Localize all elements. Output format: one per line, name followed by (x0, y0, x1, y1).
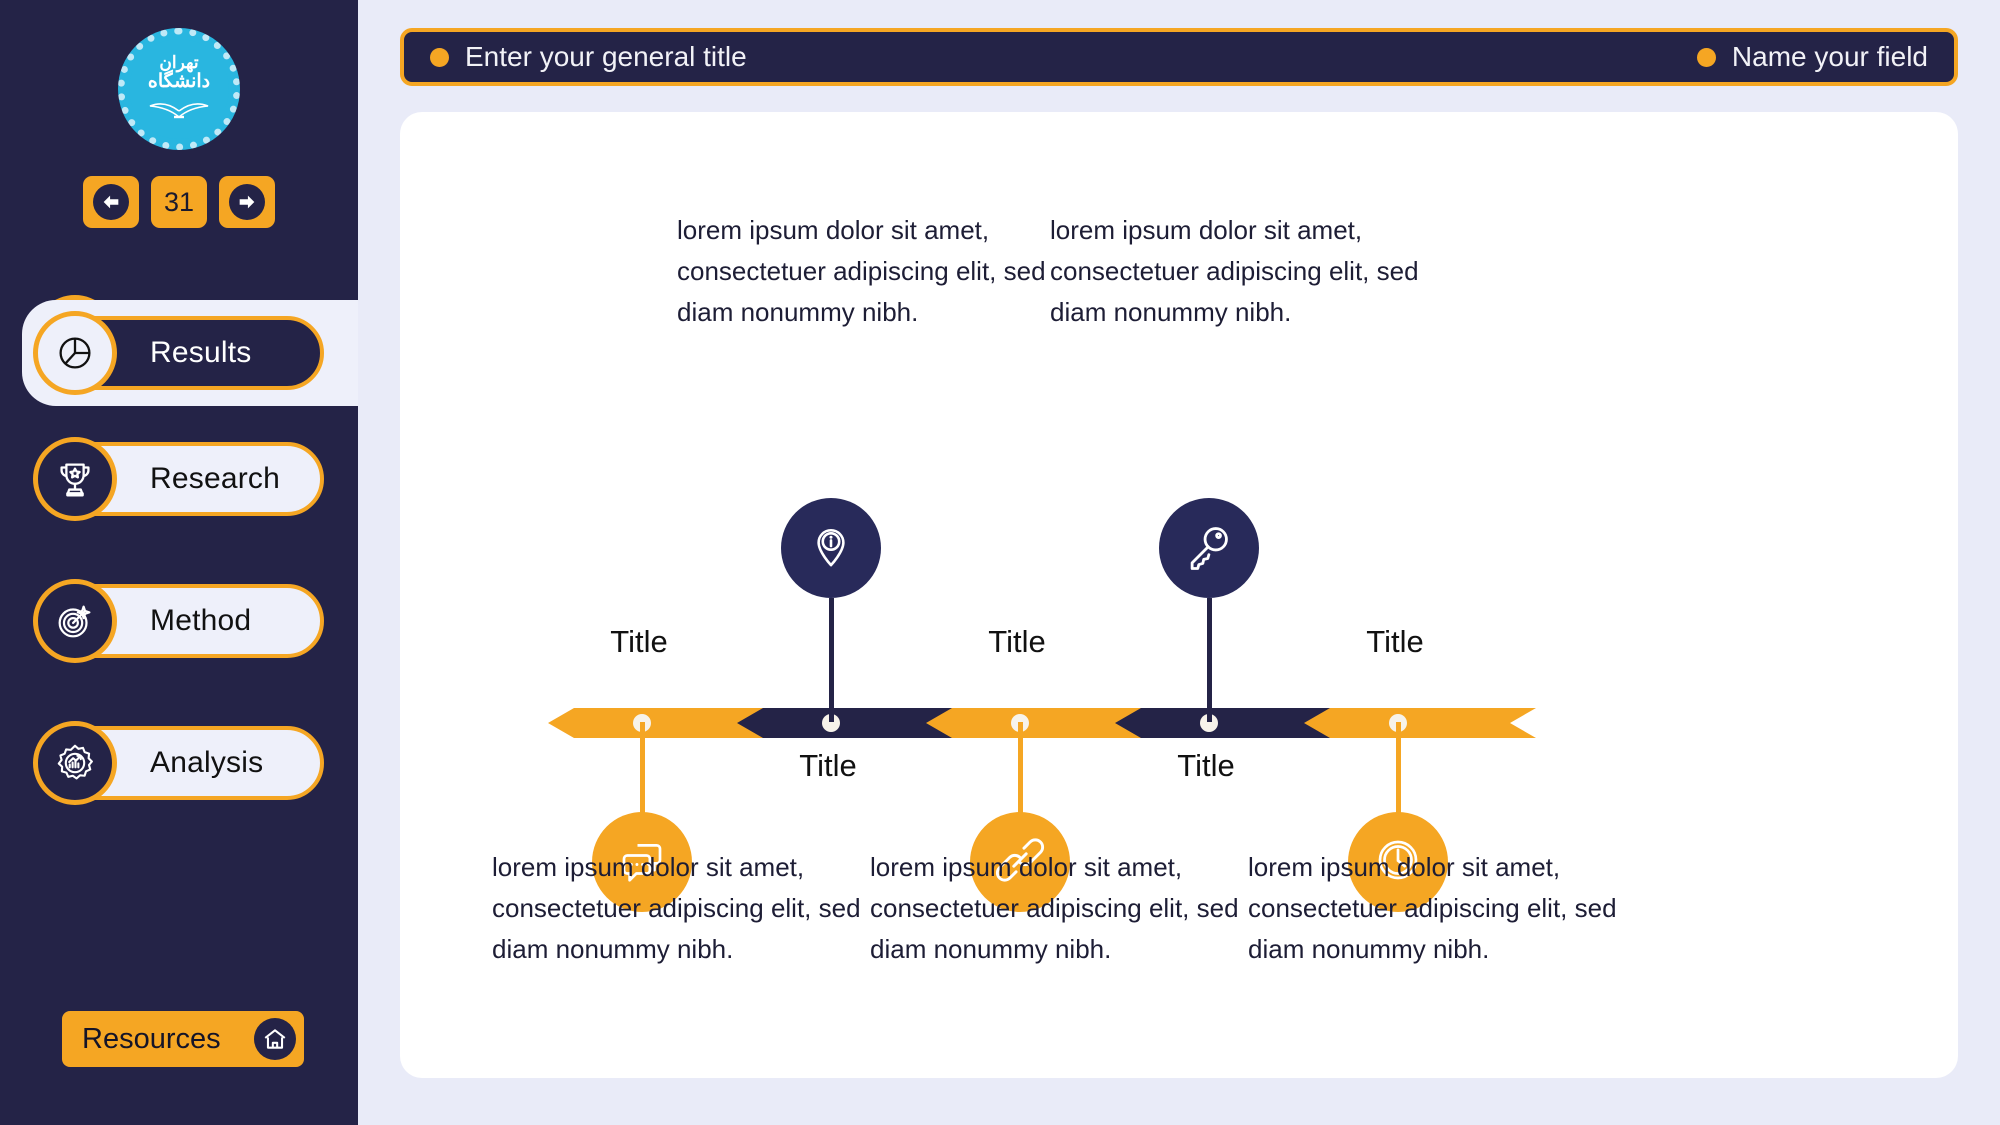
timeline-title-5: Title (1295, 624, 1495, 660)
page-number[interactable]: 31 (151, 176, 207, 228)
timeline-stem-5 (1396, 722, 1401, 818)
target-icon (33, 579, 117, 663)
home-icon (254, 1018, 296, 1060)
bottom-paragraph: lorem ipsum dolor sit amet, consectetuer… (492, 847, 892, 970)
arrow-right-icon (229, 184, 265, 220)
sidebar-item-research[interactable]: Research (34, 442, 324, 516)
logo-wings-icon (146, 93, 212, 124)
gear-chart-icon (33, 721, 117, 805)
resources-button[interactable]: Resources (62, 1011, 304, 1067)
sidebar-item-analysis[interactable]: Analysis (34, 726, 324, 800)
content-card: lorem ipsum dolor sit amet, consectetuer… (400, 112, 1958, 1078)
timeline-stem-2 (829, 598, 834, 722)
timeline-title-4: Title (1106, 748, 1306, 784)
sidebar: تهران دانشگاه (0, 0, 358, 1125)
trophy-icon (33, 437, 117, 521)
bottom-paragraph: lorem ipsum dolor sit amet, consectetuer… (870, 847, 1270, 970)
timeline-stem-4 (1207, 598, 1212, 722)
timeline-title-1: Title (539, 624, 739, 660)
sidebar-item-method[interactable]: Method (34, 584, 324, 658)
sidebar-item-results[interactable]: Results (34, 316, 324, 390)
timeline-stem-3 (1018, 722, 1023, 818)
general-title-field[interactable]: Enter your general title (430, 41, 747, 73)
timeline: lorem ipsum dolor sit amet, consectetuer… (400, 112, 1958, 1078)
pie-chart-icon (33, 311, 117, 395)
location-info-icon (804, 519, 858, 578)
sidebar-item-label: Results (150, 336, 251, 370)
logo-text-line1: تهران (159, 54, 198, 71)
bottom-paragraph: lorem ipsum dolor sit amet, consectetuer… (1248, 847, 1648, 970)
arrow-left-icon (93, 184, 129, 220)
sidebar-item-label: Research (150, 462, 280, 496)
slide-root: تهران دانشگاه (0, 0, 2000, 1125)
sidebar-nav: Description Research (0, 300, 358, 868)
dot-icon (1697, 48, 1716, 67)
field-name-text: Name your field (1732, 41, 1928, 73)
prev-page-button[interactable] (83, 176, 139, 228)
timeline-title-3: Title (917, 624, 1117, 660)
key-icon (1182, 519, 1236, 578)
next-page-button[interactable] (219, 176, 275, 228)
top-paragraph: lorem ipsum dolor sit amet, consectetuer… (677, 210, 1077, 333)
header-bar: Enter your general title Name your field (400, 28, 1958, 86)
timeline-title-2: Title (728, 748, 928, 784)
field-name-field[interactable]: Name your field (1697, 41, 1928, 73)
logo-container: تهران دانشگاه (0, 28, 358, 150)
university-of-tehran-logo: تهران دانشگاه (118, 28, 240, 150)
resources-label: Resources (82, 1023, 221, 1056)
node-key[interactable] (1159, 498, 1259, 598)
general-title-text: Enter your general title (465, 41, 747, 73)
dot-icon (430, 48, 449, 67)
top-paragraph: lorem ipsum dolor sit amet, consectetuer… (1050, 210, 1450, 333)
node-location-info[interactable] (781, 498, 881, 598)
sidebar-item-label: Method (150, 604, 251, 638)
main-content: Enter your general title Name your field… (358, 0, 2000, 1125)
logo-text-line2: دانشگاه (148, 71, 210, 93)
sidebar-item-label: Analysis (150, 746, 263, 780)
active-item-backdrop: Results (22, 300, 358, 406)
page-navigation: 31 (0, 176, 358, 228)
timeline-stem-1 (640, 722, 645, 818)
logo-inner: تهران دانشگاه (129, 39, 229, 139)
timeline-segment-5[interactable] (1304, 708, 1536, 738)
